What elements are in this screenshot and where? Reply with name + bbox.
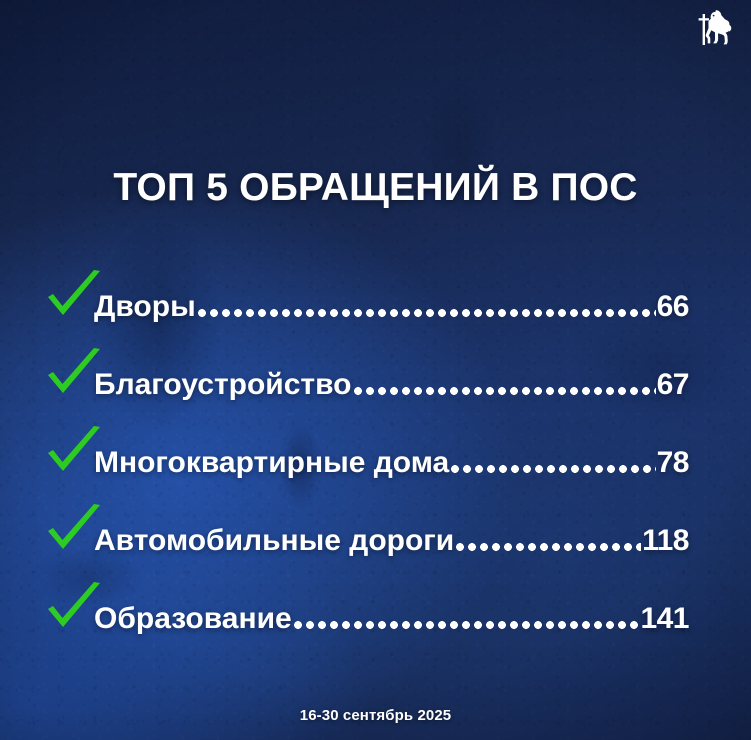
- list-item-body: Многоквартирные дома 78: [46, 446, 689, 480]
- list-item-body: Автомобильные дороги 118: [46, 524, 689, 558]
- dot-leader: [352, 387, 656, 395]
- list-item-value: 141: [640, 602, 689, 636]
- dot-leader: [196, 309, 656, 317]
- period-caption: 16-30 сентябрь 2025: [0, 707, 751, 724]
- lion-coat-of-arms-icon: [691, 4, 739, 56]
- list-item-value: 118: [642, 524, 689, 558]
- list-item: Многоквартирные дома 78: [46, 424, 689, 502]
- list-item-body: Образование 141: [46, 602, 689, 636]
- list-item-label: Автомобильные дороги: [94, 524, 454, 558]
- list-item: Автомобильные дороги 118: [46, 502, 689, 580]
- list-item-value: 78: [657, 446, 689, 480]
- list-item-value: 67: [657, 368, 689, 402]
- list-item-value: 66: [657, 290, 689, 324]
- list-item-label: Многоквартирные дома: [94, 446, 449, 480]
- dot-leader: [454, 543, 641, 551]
- list-item-body: Дворы 66: [46, 290, 689, 324]
- list-item-body: Благоустройство 67: [46, 368, 689, 402]
- top-requests-list: Дворы 66 Благоустройство 67: [46, 268, 689, 658]
- list-item-label: Дворы: [94, 290, 196, 324]
- list-item: Образование 141: [46, 580, 689, 658]
- list-item-label: Благоустройство: [94, 368, 352, 402]
- list-item: Дворы 66: [46, 268, 689, 346]
- list-item-label: Образование: [94, 602, 292, 636]
- page-title: ТОП 5 ОБРАЩЕНИЙ В ПОС: [0, 166, 751, 210]
- poster-content: ТОП 5 ОБРАЩЕНИЙ В ПОС Дворы 66: [0, 0, 751, 740]
- list-item: Благоустройство 67: [46, 346, 689, 424]
- dot-leader: [292, 621, 640, 629]
- poster-canvas: ТОП 5 ОБРАЩЕНИЙ В ПОС Дворы 66: [0, 0, 751, 740]
- dot-leader: [449, 465, 655, 473]
